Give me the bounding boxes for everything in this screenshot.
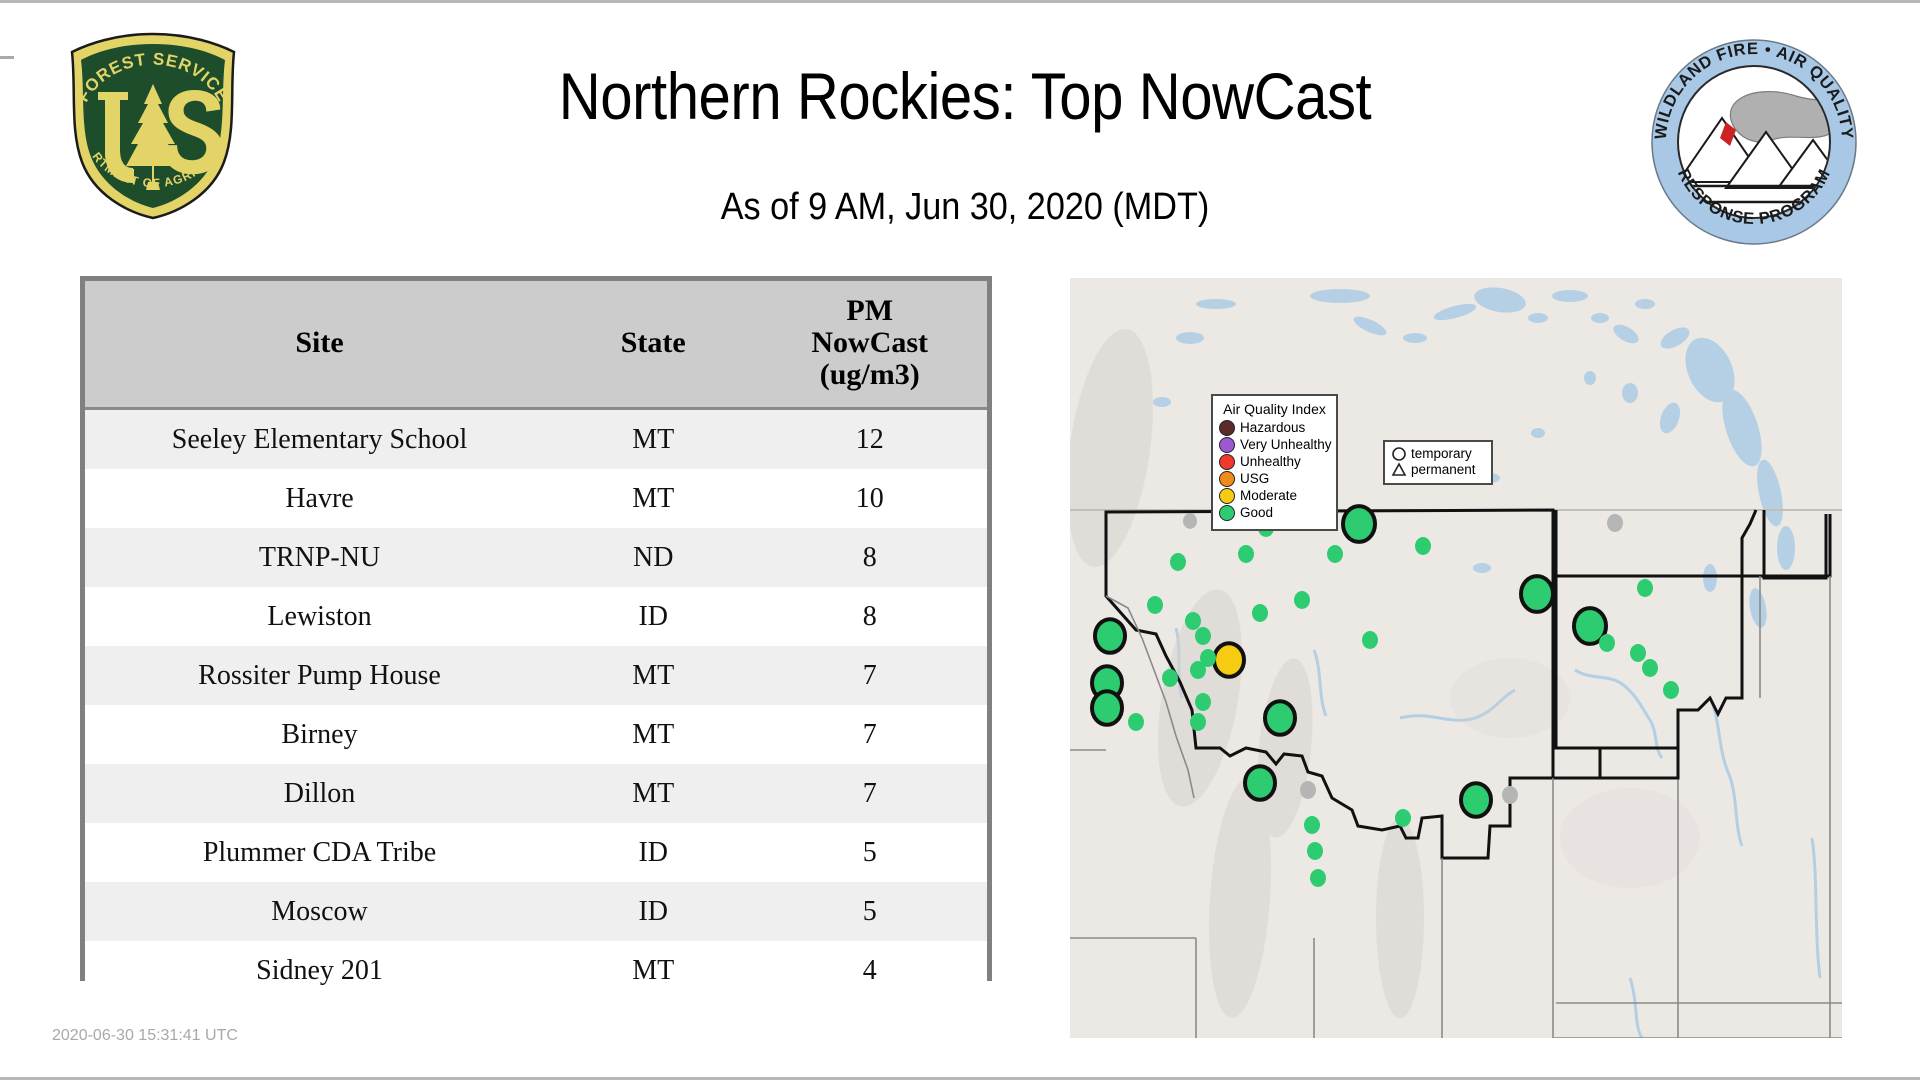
map-site-marker[interactable]: [1300, 781, 1316, 799]
table-row: HavreMT10: [85, 469, 987, 528]
table-cell-state: ID: [554, 823, 752, 882]
map-site-marker[interactable]: [1310, 869, 1326, 887]
map-site-marker[interactable]: [1147, 596, 1163, 614]
table-cell-site: Plummer CDA Tribe: [85, 823, 554, 882]
aqi-legend-swatch-icon: [1219, 420, 1235, 436]
map-site-marker[interactable]: [1162, 669, 1178, 687]
map-site-marker[interactable]: [1304, 816, 1320, 834]
map-site-marker[interactable]: [1415, 537, 1431, 555]
map-site-marker[interactable]: [1362, 631, 1378, 649]
table-row: BirneyMT7: [85, 705, 987, 764]
table-cell-pm: 7: [752, 764, 987, 823]
air-quality-map[interactable]: [1070, 278, 1842, 1038]
column-header-pm-line3: (ug/m3): [752, 359, 987, 391]
nowcast-table-container: Site State PM NowCast (ug/m3) Seeley Ele…: [80, 276, 992, 981]
map-site-marker[interactable]: [1170, 553, 1186, 571]
map-site-marker[interactable]: [1092, 691, 1122, 725]
table-cell-pm: 7: [752, 646, 987, 705]
table-cell-site: Lewiston: [85, 587, 554, 646]
page-top-border: [0, 0, 1920, 3]
aqi-legend-swatch-icon: [1219, 454, 1235, 470]
map-site-marker[interactable]: [1327, 545, 1343, 563]
map-site-marker[interactable]: [1642, 659, 1658, 677]
map-site-marker[interactable]: [1190, 713, 1206, 731]
table-row: TRNP-NUND8: [85, 528, 987, 587]
table-cell-site: TRNP-NU: [85, 528, 554, 587]
aqi-legend-label: Hazardous: [1240, 421, 1305, 435]
map-site-marker[interactable]: [1663, 681, 1679, 699]
map-site-marker[interactable]: [1637, 579, 1653, 597]
legend-permanent-label: permanent: [1411, 463, 1476, 477]
page-edge-artifact: [0, 56, 14, 59]
map-site-marker[interactable]: [1252, 604, 1268, 622]
table-cell-state: MT: [554, 469, 752, 528]
table-cell-state: MT: [554, 646, 752, 705]
map-site-marker[interactable]: [1630, 644, 1646, 662]
page-subtitle: As of 9 AM, Jun 30, 2020 (MDT): [367, 186, 1564, 229]
nowcast-table: Site State PM NowCast (ug/m3) Seeley Ele…: [85, 281, 987, 1000]
map-site-marker[interactable]: [1183, 513, 1197, 529]
temporary-site-icon: [1391, 446, 1407, 462]
table-header-row: Site State PM NowCast (ug/m3): [85, 281, 987, 409]
wfaqrp-circle-logo: WILDLAND FIRE • AIR QUALITY RESPONSE PRO…: [1648, 36, 1860, 248]
legend-permanent-row: permanent: [1391, 462, 1485, 478]
map-site-marker[interactable]: [1185, 612, 1201, 630]
map-site-marker[interactable]: [1214, 643, 1244, 677]
map-site-marker[interactable]: [1265, 701, 1295, 735]
map-site-marker[interactable]: [1195, 627, 1211, 645]
table-header: Site State PM NowCast (ug/m3): [85, 281, 987, 409]
aqi-legend-item: Good: [1219, 505, 1330, 521]
map-site-marker[interactable]: [1195, 693, 1211, 711]
table-row: MoscowID5: [85, 882, 987, 941]
map-site-marker[interactable]: [1521, 576, 1553, 612]
table-cell-pm: 4: [752, 941, 987, 1000]
table-cell-site: Rossiter Pump House: [85, 646, 554, 705]
site-type-legend: temporary permanent: [1383, 440, 1493, 485]
map-site-marker[interactable]: [1343, 506, 1375, 542]
map-site-marker[interactable]: [1599, 634, 1615, 652]
aqi-legend-swatch-icon: [1219, 488, 1235, 504]
table-cell-pm: 7: [752, 705, 987, 764]
table-cell-pm: 5: [752, 823, 987, 882]
table-cell-site: Havre: [85, 469, 554, 528]
column-header-pm-line2: NowCast: [752, 327, 987, 359]
table-cell-pm: 8: [752, 587, 987, 646]
table-cell-state: MT: [554, 409, 752, 470]
table-cell-state: MT: [554, 705, 752, 764]
aqi-legend-item: Unhealthy: [1219, 454, 1330, 470]
map-site-marker[interactable]: [1461, 783, 1491, 817]
map-site-marker[interactable]: [1200, 649, 1216, 667]
aqi-legend-label: Good: [1240, 506, 1273, 520]
aqi-legend-item: Moderate: [1219, 488, 1330, 504]
generated-timestamp: 2020-06-30 15:31:41 UTC: [52, 1027, 238, 1045]
map-site-marker[interactable]: [1395, 809, 1411, 827]
usfs-shield-logo: FOREST SERVICE DEPARTMENT OF AGRICULTURE: [58, 30, 248, 222]
table-cell-state: MT: [554, 941, 752, 1000]
table-cell-site: Seeley Elementary School: [85, 409, 554, 470]
table-cell-site: Dillon: [85, 764, 554, 823]
aqi-legend-label: USG: [1240, 472, 1269, 486]
column-header-site: Site: [85, 281, 554, 409]
aqi-legend-swatch-icon: [1219, 437, 1235, 453]
aqi-legend-title: Air Quality Index: [1219, 401, 1330, 417]
table-row: DillonMT7: [85, 764, 987, 823]
aqi-legend-item: Very Unhealthy: [1219, 437, 1330, 453]
aqi-legend-rows: HazardousVery UnhealthyUnhealthyUSGModer…: [1219, 420, 1330, 521]
aqi-legend-label: Very Unhealthy: [1240, 438, 1332, 452]
table-row: Plummer CDA TribeID5: [85, 823, 987, 882]
map-site-marker[interactable]: [1238, 545, 1254, 563]
legend-temporary-label: temporary: [1411, 447, 1472, 461]
table-row: LewistonID8: [85, 587, 987, 646]
table-cell-state: ID: [554, 587, 752, 646]
map-site-marker[interactable]: [1307, 842, 1323, 860]
map-canvas: [1070, 278, 1842, 1038]
legend-temporary-row: temporary: [1391, 446, 1485, 462]
aqi-legend-label: Unhealthy: [1240, 455, 1301, 469]
map-site-marker[interactable]: [1095, 619, 1125, 653]
table-cell-state: MT: [554, 764, 752, 823]
table-body: Seeley Elementary SchoolMT12HavreMT10TRN…: [85, 409, 987, 1001]
aqi-legend: Air Quality Index HazardousVery Unhealth…: [1211, 394, 1338, 531]
column-header-pm-nowcast: PM NowCast (ug/m3): [752, 281, 987, 409]
aqi-legend-label: Moderate: [1240, 489, 1297, 503]
table-row: Sidney 201MT4: [85, 941, 987, 1000]
column-header-state: State: [554, 281, 752, 409]
map-site-marker[interactable]: [1502, 786, 1518, 804]
map-site-marker[interactable]: [1607, 514, 1623, 532]
table-cell-site: Moscow: [85, 882, 554, 941]
table-cell-site: Sidney 201: [85, 941, 554, 1000]
table-cell-state: ID: [554, 882, 752, 941]
aqi-legend-swatch-icon: [1219, 505, 1235, 521]
column-header-pm-line1: PM: [752, 295, 987, 327]
table-row: Seeley Elementary SchoolMT12: [85, 409, 987, 470]
permanent-site-icon: [1391, 462, 1407, 478]
map-site-marker[interactable]: [1294, 591, 1310, 609]
aqi-legend-item: Hazardous: [1219, 420, 1330, 436]
map-site-marker[interactable]: [1128, 713, 1144, 731]
table-cell-pm: 8: [752, 528, 987, 587]
table-cell-state: ND: [554, 528, 752, 587]
table-cell-pm: 10: [752, 469, 987, 528]
aqi-legend-swatch-icon: [1219, 471, 1235, 487]
table-row: Rossiter Pump HouseMT7: [85, 646, 987, 705]
table-cell-site: Birney: [85, 705, 554, 764]
table-cell-pm: 5: [752, 882, 987, 941]
table-cell-pm: 12: [752, 409, 987, 470]
aqi-legend-item: USG: [1219, 471, 1330, 487]
page-title: Northern Rockies: Top NowCast: [380, 58, 1550, 134]
map-site-marker[interactable]: [1245, 766, 1275, 800]
